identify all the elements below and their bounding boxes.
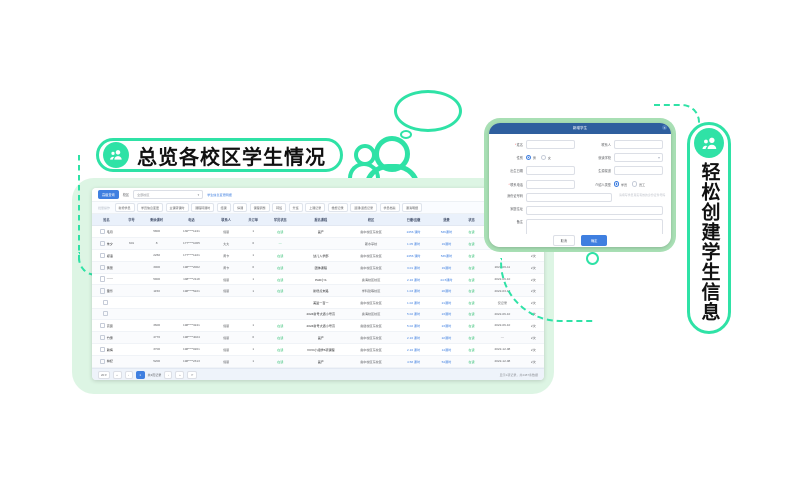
cell-campus: 奥中校区东校区 [347,297,395,308]
cell-state: 在读 [461,355,482,367]
cell-contact: 倪丽 [212,273,241,284]
people-icon [694,128,724,158]
cell-state: 在读 [461,249,482,261]
create-student-badge: 轻松创建学生信息 [687,122,731,334]
table-row[interactable]: 竹惠4770198****4024倪丽0在读画产奥中校区东校区2.16 课时22… [92,331,544,343]
people-icon [103,142,129,168]
cell-status: 在读 [266,249,295,261]
cell-course: 2024新号大通小号高 [295,319,347,331]
page-size-select[interactable]: 20 ▾ [98,371,110,379]
intro-option-label: 学员 [621,182,627,187]
radio-unselected-icon [632,181,637,186]
idcard-label: 身份证号码 [497,193,523,198]
cell-course: PAD小S [295,273,347,284]
intro-radio-student[interactable]: 学员 [614,181,627,186]
source-field-group: 生源渠道 [585,166,663,175]
cell-name: 童乐 [92,285,121,297]
cell-course: 新增点未路 [295,285,347,297]
cell-orders [241,308,266,319]
gender-radio-group: 男 女 [526,155,575,160]
cell-course: 2024新号大通小号高 [295,308,347,319]
cell-hours: 1150 [142,285,171,297]
table-row[interactable]: 2024新号大通小号高奥海校区校区5.02 课时23课时在读2022-06-10… [92,308,544,319]
cell-refund: 54课时 [432,355,461,367]
cell-course: 美篮一百一 [295,297,347,308]
table-row[interactable]: 毛月5800130****1241倪丽1在读画产奥中校区东校区2456 课时53… [92,226,544,238]
cell-hours [142,297,171,308]
cell-hours: 4770 [142,331,171,343]
birthday-field-group: 出生日期 [497,166,575,175]
cell-campus: 奥中校区东校区 [347,249,395,261]
cell-paid: 5.02 课时 [395,308,432,319]
cell-phone: 177****1065 [171,237,212,249]
cell-phone: 177****1221 [171,249,212,261]
cell-course: 幼儿入学部 [295,249,347,261]
campus-label: 校区 [123,192,129,197]
radio-selected-icon [526,155,531,160]
cell-contact [212,308,241,319]
create-student-badge-label: 轻松创建学生信息 [700,162,719,322]
gender-radio-male[interactable]: 男 [526,155,536,160]
search-bar: 高级查询 校区 全部校区 ▾ 学生信息变更明细 [92,188,544,202]
toolbar-button[interactable]: 主课转课时 [166,203,189,212]
cell-status: 在读 [266,273,295,284]
col-phone[interactable]: 电话 [171,214,212,226]
source-label: 生源渠道 [585,168,611,173]
cell-name: 竹惠 [92,331,121,343]
cell-no [121,249,142,261]
dialog-footer: 取消 确定 [489,234,671,247]
cell-paid: 2456 课时 [395,249,432,261]
cell-contact [212,297,241,308]
thought-bubble-dot-icon [400,130,412,139]
cell-name: 高贤 [92,319,121,331]
col-course[interactable]: 报名课程 [295,214,347,226]
left-dashed-connector [78,155,80,263]
toolbar-button[interactable]: 学员信息变更 [137,203,163,212]
campus-select-value: 全部校区 [137,192,149,197]
row-checkbox[interactable] [100,359,105,364]
col-status[interactable]: 学员状态 [266,214,295,226]
cell-status: — [266,237,295,249]
cell-orders: 1 [241,249,266,261]
cell-name: 朱夕 [92,237,121,249]
cancel-button[interactable]: 取消 [553,235,575,246]
row-checkbox[interactable] [100,347,105,352]
cell-state: 在读 [461,308,482,319]
toolbar-button[interactable]: 新增学员 [115,203,135,212]
cell-hours: 3000 [142,261,171,273]
gender-field-group: 性别 男 女 [497,153,575,162]
intro-option-label: 员工 [639,182,645,187]
cell-state: 在读 [461,319,482,331]
school-select[interactable] [614,153,663,162]
intro-radio-group: 学员 员工 [614,181,663,186]
cell-state: 在读 [461,331,482,343]
pagination-bar: 20 ▾ « ‹ 1 共3页记录 › » ⟳ 显示1项记录，共4487条数据 [92,368,544,380]
cell-ct: 2次 [523,319,544,331]
cell-phone: 130****1241 [171,226,212,238]
cell-contact: 倪丽 [212,226,241,238]
school-label: 就读学校 [585,155,611,160]
cell-orders: 0 [241,331,266,343]
cell-paid: 2456 课时 [395,226,432,238]
cell-date: — [482,331,523,343]
toolbar-button[interactable]: 结课 [217,203,231,212]
toolbar-button[interactable]: 升班 [289,203,303,212]
cell-course [295,237,347,249]
student-list-card: 高级查询 校区 全部校区 ▾ 学生信息变更明细 批量操作 新增学员 学员信息变更… [92,188,544,380]
cell-hours: 5200 [142,355,171,367]
toolbar-button[interactable]: 停课 [233,203,247,212]
address-input[interactable] [526,206,663,215]
row-checkbox[interactable] [100,265,105,270]
table-row[interactable]: 黄蕾3000198****2002黄卡0在读团体课程奥中校区东校区3.01 课时… [92,261,544,273]
cell-course: VIVO小组学5项课程 [295,343,347,355]
cell-name: 林纪 [92,355,121,367]
toolbar-button[interactable]: 课程调整 [250,203,270,212]
cell-date: 2022-12-08 [482,355,523,367]
phone-input[interactable] [526,180,575,189]
cell-contact: 黄卡 [212,261,241,273]
cell-paid: 2.16 课时 [395,331,432,343]
cell-paid: 2.16 课时 [395,273,432,284]
cell-state: 在读 [461,226,482,238]
intro-radio-staff[interactable]: 员工 [632,181,645,186]
col-paid[interactable]: 已缴/应缴 [395,214,432,226]
contact-label: 联系人 [585,142,611,147]
table-row[interactable]: 童乐1150198****5221倪丽1在读新增点未路学科建等校区1.03 课时… [92,285,544,297]
cell-contact: 倪丽 [212,285,241,297]
student-table: 姓名 学号 剩余课时 电话 联系人 共订单 学员状态 报名课程 校区 已缴/应缴… [92,214,544,380]
thought-bubble-icon [394,90,462,132]
name-field-group: 姓名 [497,140,575,149]
col-no[interactable]: 学号 [121,214,142,226]
idcard-input[interactable] [526,193,612,202]
phone-field-group: 联系电话 [497,180,575,189]
cell-refund: 19课时 [432,261,461,273]
cell-campus: 奥海校区校区 [347,273,395,284]
table-row[interactable]: ——5900198****2118倪丽1在读PAD小S奥海校区校区2.16 课时… [92,273,544,284]
cell-hours: 3700 [142,343,171,355]
total-pages-label: 共3页记录 [148,373,162,377]
cell-contact: 黄卡 [212,249,241,261]
advanced-query-button[interactable]: 高级查询 [98,190,119,198]
toolbar-button[interactable]: 学员档案 [380,203,400,212]
col-state[interactable]: 状态 [461,214,482,226]
overview-badge-label: 总览各校区学生情况 [137,141,326,170]
table-row[interactable]: 林纪5200198****2313倪丽1在读画产奥中校区东校区4.58 课时54… [92,355,544,367]
cell-hours: 5900 [142,273,171,284]
table-row[interactable]: 高贤3600198****3241倪丽1在读2024新号大通小号高奥健校区东校区… [92,319,544,331]
cell-no [121,343,142,355]
cell-date: 2022-12-08 [482,343,523,355]
cell-contact: 倪丽 [212,331,241,343]
cell-orders: 1 [241,355,266,367]
toolbar-ghost-label: 批量操作 [98,206,110,210]
cell-orders: 1 [241,285,266,297]
cell-status: 在读 [266,343,295,355]
toolbar-button[interactable]: 课消明细 [402,203,422,212]
idcard-field-group: 身份证号码 请填写学员真实有效的身份证件号码 [497,193,663,202]
gender-radio-female[interactable]: 女 [541,155,551,160]
cell-status [266,308,295,319]
cell-ct: 2次 [523,331,544,343]
cell-status: 在读 [266,331,295,343]
cell-refund: 23课时 [432,308,461,319]
phone-label: 联系电话 [497,182,523,187]
last-page-button[interactable]: » [175,371,184,379]
cell-name: 郑语 [92,249,121,261]
cell-no [121,273,142,284]
col-campus[interactable]: 校区 [347,214,395,226]
first-page-button[interactable]: « [113,371,122,379]
cell-campus: 奥中校区东校区 [347,355,395,367]
create-student-dialog: 新增学生 × 姓名 联系人 性别 [489,123,671,247]
cell-orders [241,297,266,308]
cell-orders: 0 [241,261,266,273]
cell-hours [142,308,171,319]
cell-contact: 倪丽 [212,319,241,331]
toolbar-button[interactable]: 上课记录 [305,203,325,212]
screenshot-root: 总览各校区学生情况 轻松创建学生信息 高级查询 校区 全部校区 ▾ 学生信息变更… [0,0,800,500]
address-field-group: 家庭住址 [497,206,663,215]
cell-paid: 3.01 课时 [395,261,432,273]
cell-refund: 536课时 [432,249,461,261]
cell-phone [171,297,212,308]
refresh-icon[interactable]: ⟳ [187,371,197,379]
col-name[interactable]: 姓名 [92,214,121,226]
cell-refund: 19课时 [432,237,461,249]
cell-no [121,297,142,308]
cell-campus: 奥中校区东校区 [347,343,395,355]
cell-course: 画产 [295,226,347,238]
row-checkbox[interactable] [100,229,105,234]
table-row[interactable]: 朱夕6018177****1065大大0—斯水亭校1.05 课时19课时在读2次 [92,237,544,249]
cell-orders: 1 [241,273,266,284]
cell-name [92,297,121,308]
gender-option-label: 男 [533,155,536,160]
contact-input[interactable] [614,140,663,149]
cell-hours: 8 [142,237,171,249]
record-count-label: 显示1项记录，共4487条数据 [500,373,538,377]
radio-selected-icon [614,181,619,186]
cell-campus: 奥中校区东校区 [347,261,395,273]
prev-page-button[interactable]: ‹ [125,371,133,379]
address-label: 家庭住址 [497,206,523,211]
table-header-row: 姓名 学号 剩余课时 电话 联系人 共订单 学员状态 报名课程 校区 已缴/应缴… [92,214,544,226]
cell-phone: 198****2002 [171,261,212,273]
cell-refund: 21课时 [432,297,461,308]
cell-date: 2022-06-10 [482,308,523,319]
cell-campus: 奥中校区东校区 [347,331,395,343]
form-row: 联系电话 介绍人类型 学员 员工 [497,180,663,189]
toolbar-button[interactable]: 课程转课时 [191,203,214,212]
cell-paid: 1.03 课时 [395,285,432,297]
cell-no [121,355,142,367]
cell-phone: 198****0201 [171,343,212,355]
cell-paid: 5.02 课时 [395,319,432,331]
cell-date: 2022-06-10 [482,319,523,331]
source-input[interactable] [614,166,663,175]
cell-campus: 奥中校区东校区 [347,226,395,238]
col-hours[interactable]: 剩余课时 [142,214,171,226]
school-field-group: 就读学校 [585,153,663,162]
dialog-body: 姓名 联系人 性别 男 [489,134,671,247]
cell-ct: 2次 [523,343,544,355]
current-page-button[interactable]: 1 [136,371,145,379]
row-checkbox[interactable] [100,253,105,258]
cell-refund: 536课时 [432,226,461,238]
overview-badge: 总览各校区学生情况 [96,138,343,172]
cell-status: 在读 [266,285,295,297]
next-page-button[interactable]: › [164,371,172,379]
radio-unselected-icon [541,155,546,160]
cell-contact: 倪丽 [212,343,241,355]
cell-paid: 1.05 课时 [395,237,432,249]
change-log-link[interactable]: 学生信息变更明细 [207,192,232,197]
cell-refund: 20课时 [432,285,461,297]
cell-contact: 倪丽 [212,355,241,367]
cell-phone: 198****3241 [171,319,212,331]
name-input[interactable] [526,140,575,149]
cell-state: 在读 [461,297,482,308]
cell-state: 在读 [461,273,482,284]
cell-campus: 奥海校区校区 [347,308,395,319]
col-orders[interactable]: 共订单 [241,214,266,226]
close-icon[interactable]: × [662,125,667,130]
cell-refund: 44.5课时 [432,273,461,284]
cell-orders: 1 [241,226,266,238]
toolbar-button[interactable]: 缴费记录 [328,203,348,212]
contact-field-group: 联系人 [585,140,663,149]
cell-course: 团体课程 [295,261,347,273]
cell-course: 画产 [295,355,347,367]
cell-name: —— [92,273,121,284]
form-row: 性别 男 女 就读学校 [497,153,663,162]
row-checkbox[interactable] [100,288,105,293]
row-checkbox[interactable] [103,311,108,316]
campus-select[interactable]: 全部校区 ▾ [133,190,203,199]
table-row[interactable]: 美篮一百一奥中校区东校区1.02 课时21课时在读仅记录2次 [92,297,544,308]
intro-field-group: 介绍人类型 学员 员工 [585,180,663,189]
cell-course: 画产 [295,331,347,343]
cell-campus: 奥健校区东校区 [347,319,395,331]
table-head: 姓名 学号 剩余课时 电话 联系人 共订单 学员状态 报名课程 校区 已缴/应缴… [92,214,544,226]
cell-orders: 1 [241,319,266,331]
cell-paid: 4.58 课时 [395,355,432,367]
cell-campus: 斯水亭校 [347,237,395,249]
cell-phone: 198****2313 [171,355,212,367]
cell-no [121,226,142,238]
cell-phone: 198****2118 [171,273,212,284]
cell-state: 在读 [461,261,482,273]
row-checkbox[interactable] [100,335,105,340]
form-row: 出生日期 生源渠道 [497,166,663,175]
table-row[interactable]: 郑语2260177****1221黄卡1在读幼儿入学部奥中校区东校区2456 课… [92,249,544,261]
cell-status: 在读 [266,319,295,331]
cell-name [92,308,121,319]
cell-no: 601 [121,237,142,249]
form-row: 姓名 联系人 [497,140,663,149]
row-checkbox[interactable] [100,323,105,328]
cell-ct: 2次 [523,355,544,367]
cell-state: 在读 [461,285,482,297]
cell-status: 在读 [266,226,295,238]
cell-campus: 学科建等校区 [347,285,395,297]
toolbar-button[interactable]: 退课/退费记录 [350,203,377,212]
intro-label: 介绍人类型 [585,182,611,187]
col-refund[interactable]: 退费 [432,214,461,226]
cell-name: 赖梅 [92,343,121,355]
col-contact[interactable]: 联系人 [212,214,241,226]
row-checkbox[interactable] [100,276,105,281]
row-checkbox[interactable] [100,241,105,246]
cell-phone: 198****4024 [171,331,212,343]
cell-phone [171,308,212,319]
cell-no [121,308,142,319]
cell-hours: 2260 [142,249,171,261]
table-body: 毛月5800130****1241倪丽1在读画产奥中校区东校区2456 课时53… [92,226,544,381]
cell-hours: 3600 [142,319,171,331]
cell-refund: 22课时 [432,331,461,343]
cell-phone: 198****5221 [171,285,212,297]
cell-state: 在读 [461,237,482,249]
cell-orders: 1 [241,343,266,355]
name-label: 姓名 [497,142,523,147]
gender-label: 性别 [497,155,523,160]
gender-option-label: 女 [548,155,551,160]
cell-hours: 5800 [142,226,171,238]
dialog-title-bar: 新增学生 × [489,123,671,134]
connector-dot [586,252,599,265]
cell-no [121,285,142,297]
toolbar-button[interactable]: 转班 [272,203,286,212]
idcard-hint: 请填写学员真实有效的身份证件号码 [619,193,665,197]
birthday-label: 出生日期 [497,168,523,173]
cell-status: 在读 [266,355,295,367]
birthday-input[interactable] [526,166,575,175]
cell-no [121,261,142,273]
remark-label: 备注 [497,219,523,224]
cell-name: 毛月 [92,226,121,238]
dialog-backdrop: 新增学生 × 姓名 联系人 性别 [484,118,676,252]
cell-paid: 1.02 课时 [395,297,432,308]
cell-name: 黄蕾 [92,261,121,273]
cell-status [266,297,295,308]
cell-no [121,319,142,331]
cell-no [121,331,142,343]
chevron-down-icon: ▾ [198,193,200,197]
table-row[interactable]: 赖梅3700198****0201倪丽1在读VIVO小组学5项课程奥中校区东校区… [92,343,544,355]
cell-state: 在读 [461,343,482,355]
row-checkbox[interactable] [103,300,108,305]
cell-refund: 23课时 [432,319,461,331]
toolbar: 批量操作 新增学员 学员信息变更 主课转课时 课程转课时 结课 停课 课程调整 … [92,202,544,214]
cell-orders: 0 [241,237,266,249]
cell-refund: 14课时 [432,343,461,355]
cell-status: 在读 [266,261,295,273]
confirm-button[interactable]: 确定 [581,235,607,246]
cell-paid: 2.16 课时 [395,343,432,355]
cell-contact: 大大 [212,237,241,249]
dialog-title: 新增学生 [573,126,587,131]
